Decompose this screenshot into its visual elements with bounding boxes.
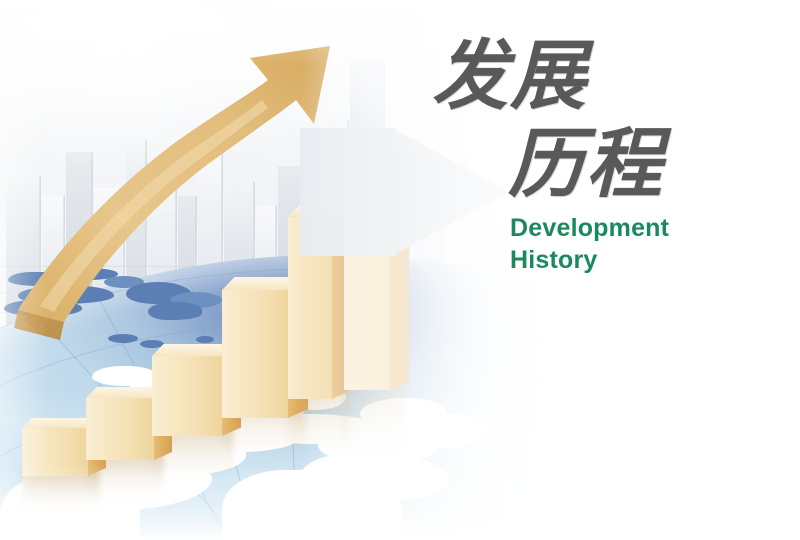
artwork-layer [0,0,800,540]
title-cjk-line-1: 发展 [432,38,588,114]
title-en-line-1: Development [510,212,669,244]
banner-image: 发展 历程 Development History [0,0,800,540]
title-cjk-line-2: 历程 [508,126,664,202]
title-en-line-2: History [510,244,598,276]
